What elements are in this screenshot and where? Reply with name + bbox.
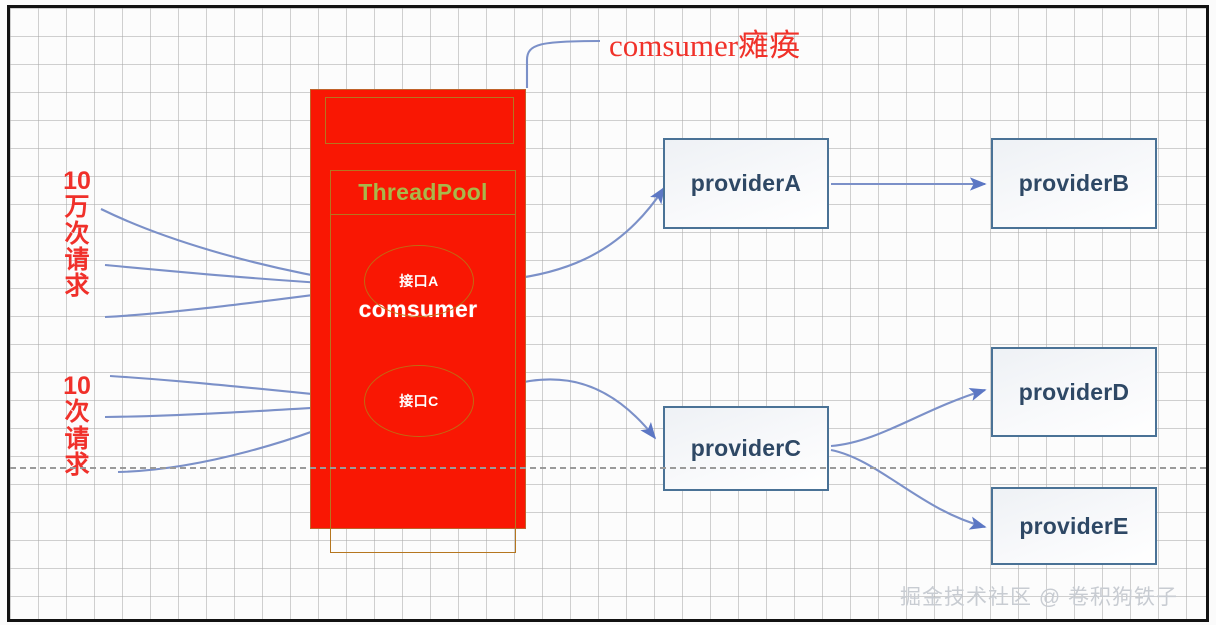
- provider-c-box[interactable]: providerC: [663, 406, 829, 491]
- low-traffic-char-1: 次: [60, 399, 94, 425]
- high-traffic-char-3: 请: [60, 247, 94, 273]
- low-traffic-char-2: 请: [60, 426, 94, 452]
- high-traffic-char-1: 万: [60, 194, 94, 220]
- high-traffic-char-0: 10: [60, 168, 94, 194]
- high-traffic-char-2: 次: [60, 221, 94, 247]
- high-traffic-label: 10 万 次 请 求: [60, 168, 94, 299]
- low-traffic-label: 10 次 请 求: [60, 373, 94, 478]
- interface-c-node[interactable]: 接口C: [364, 365, 474, 437]
- provider-b-box[interactable]: providerB: [991, 138, 1157, 229]
- provider-a-box[interactable]: providerA: [663, 138, 829, 229]
- low-traffic-char-0: 10: [60, 373, 94, 399]
- consumer-block: comsumer ThreadPool 接口A 接口C: [310, 89, 526, 529]
- low-traffic-char-3: 求: [60, 452, 94, 478]
- threadpool-label: ThreadPool: [330, 170, 516, 215]
- dashed-divider: [10, 467, 1206, 469]
- watermark: 掘金技术社区 @ 卷积狗铁子: [900, 581, 1178, 611]
- provider-d-box[interactable]: providerD: [991, 347, 1157, 437]
- provider-e-box[interactable]: providerE: [991, 487, 1157, 565]
- interface-a-node[interactable]: 接口A: [364, 245, 474, 317]
- consumer-paralyzed-annotation: comsumer瘫痪: [609, 20, 800, 65]
- threadpool-frame: [330, 170, 516, 553]
- diagram-canvas: comsumer ThreadPool 接口A 接口C providerA pr…: [0, 0, 1216, 625]
- high-traffic-char-4: 求: [60, 273, 94, 299]
